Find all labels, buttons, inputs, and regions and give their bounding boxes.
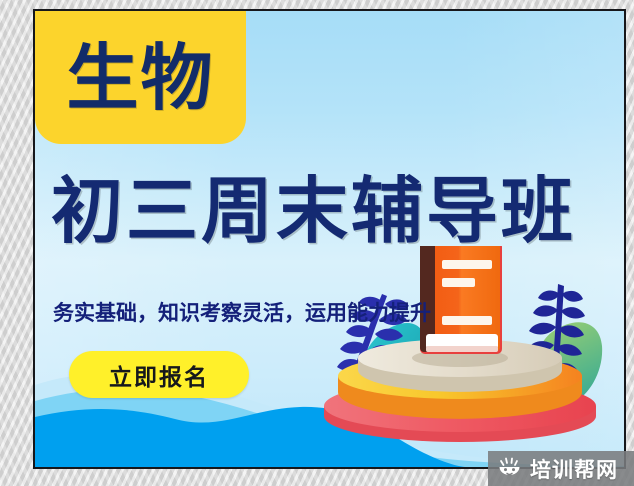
course-promo-banner: 生物 初三周末辅导班 务实基础，知识考察灵活，运用能力提升 立即报名 <box>33 9 626 469</box>
subject-badge: 生物 <box>35 11 246 144</box>
book-podium-illustration <box>290 246 626 466</box>
enroll-now-button[interactable]: 立即报名 <box>69 351 249 398</box>
screenshot-canvas: 生物 初三周末辅导班 务实基础，知识考察灵活，运用能力提升 立即报名 培训帮网 <box>0 0 634 486</box>
sun-face-icon <box>497 457 523 481</box>
subject-badge-label: 生物 <box>66 42 214 114</box>
enroll-now-label: 立即报名 <box>109 358 209 392</box>
site-watermark: 培训帮网 <box>488 451 634 486</box>
watermark-label: 培训帮网 <box>530 454 618 484</box>
page-title: 初三周末辅导班 <box>51 175 611 247</box>
subtitle-text: 务实基础，知识考察灵活，运用能力提升 <box>53 297 431 327</box>
